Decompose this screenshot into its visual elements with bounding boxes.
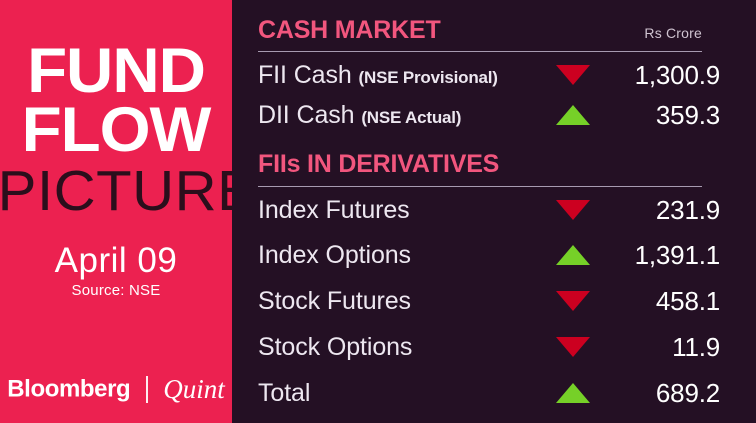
triangle-up-icon (556, 105, 590, 125)
fund-flow-infographic: FUND FLOW PICTURE April 09 Source: NSE B… (0, 0, 756, 423)
title-line-flow: FLOW (0, 101, 237, 160)
section-rule-cash-market (258, 51, 702, 52)
date-label: April 09 (0, 243, 232, 280)
triangle-down-icon (556, 291, 590, 311)
row-label-sub: (NSE Actual) (361, 108, 461, 127)
branding-panel: FUND FLOW PICTURE April 09 Source: NSE B… (0, 0, 232, 423)
triangle-down-icon (556, 65, 590, 85)
table-row: DII Cash (NSE Actual) 359.3 (258, 97, 720, 133)
row-value-index-options: 1,391.1 (604, 240, 720, 271)
unit-label-rs-crore: Rs Crore (644, 25, 702, 41)
row-value-index-futures: 231.9 (604, 195, 720, 226)
row-label-total: Total (258, 379, 542, 408)
data-panel: CASH MARKET Rs Crore FII Cash (NSE Provi… (232, 0, 756, 423)
row-value-fii-cash: 1,300.9 (604, 60, 720, 91)
direction-marker-up-icon (542, 383, 604, 403)
table-row: Stock Futures 458.1 (258, 283, 720, 319)
section-rule-fiis-in-derivatives (258, 186, 702, 187)
table-row: Index Futures 231.9 (258, 192, 720, 228)
table-row: Index Options 1,391.1 (258, 237, 720, 273)
row-label-main: DII Cash (258, 101, 354, 129)
triangle-down-icon (556, 337, 590, 357)
row-label-dii-cash: DII Cash (NSE Actual) (258, 101, 542, 130)
section-title-cash-market: CASH MARKET (258, 16, 441, 45)
row-label-index-futures: Index Futures (258, 196, 542, 225)
page-title: FUND FLOW PICTURE (0, 42, 232, 221)
table-row: Stock Options 11.9 (258, 329, 720, 365)
logo-bloomberg-text: Bloomberg (7, 376, 130, 403)
triangle-up-icon (556, 383, 590, 403)
logo-divider (146, 376, 148, 403)
section-title-fiis-in-derivatives: FIIs IN DERIVATIVES (258, 150, 499, 179)
triangle-down-icon (556, 200, 590, 220)
logo-quint-text: Quint (163, 374, 225, 404)
row-label-fii-cash: FII Cash (NSE Provisional) (258, 61, 542, 90)
row-value-total: 689.2 (604, 378, 720, 409)
direction-marker-down-icon (542, 200, 604, 220)
row-label-stock-futures: Stock Futures (258, 287, 542, 316)
row-value-dii-cash: 359.3 (604, 100, 720, 131)
direction-marker-down-icon (542, 337, 604, 357)
date-block: April 09 Source: NSE (0, 243, 232, 299)
row-label-index-options: Index Options (258, 241, 542, 270)
table-row: Total 689.2 (258, 375, 720, 411)
row-value-stock-options: 11.9 (604, 332, 720, 363)
direction-marker-up-icon (542, 245, 604, 265)
bloomberg-quint-logo: Bloomberg Quint (0, 374, 232, 405)
section-header-fiis-in-derivatives: FIIs IN DERIVATIVES (258, 150, 702, 179)
row-value-stock-futures: 458.1 (604, 286, 720, 317)
table-row: FII Cash (NSE Provisional) 1,300.9 (258, 57, 720, 93)
source-label: Source: NSE (0, 282, 232, 299)
title-line-picture: PICTURE (0, 162, 234, 220)
row-label-main: FII Cash (258, 61, 352, 89)
triangle-up-icon (556, 245, 590, 265)
row-label-sub: (NSE Provisional) (359, 68, 498, 87)
row-label-stock-options: Stock Options (258, 333, 542, 362)
section-header-cash-market: CASH MARKET Rs Crore (258, 16, 702, 45)
title-line-fund: FUND (0, 42, 237, 101)
direction-marker-up-icon (542, 105, 604, 125)
direction-marker-down-icon (542, 65, 604, 85)
direction-marker-down-icon (542, 291, 604, 311)
